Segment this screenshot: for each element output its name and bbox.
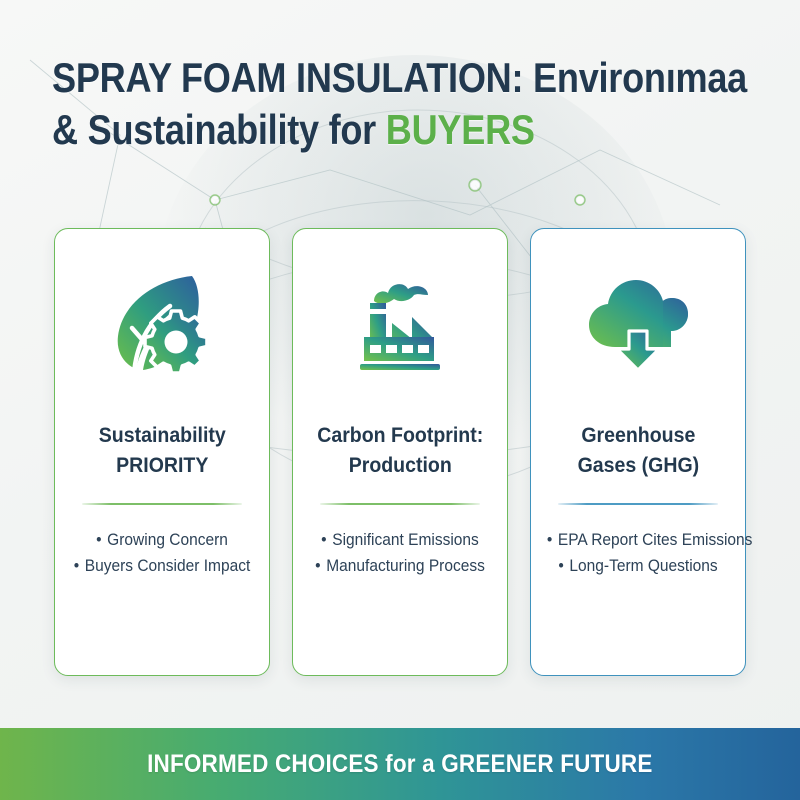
card-bullet-list: Growing Concern Buyers Consider Impact [65,527,259,579]
list-item: Long-Term Questions [547,553,729,579]
footer-tagline: INFORMED CHOICES for a GREENER FUTURE [147,750,652,779]
card-heading: Carbon Footprint: Production [317,421,483,481]
title-highlight-buyers: BUYERS [386,106,535,153]
card-bullet-list: Significant Emissions Manufacturing Proc… [303,527,497,579]
list-item: Buyers Consider Impact [71,553,253,579]
card-bullet-list: EPA Report Cites Emissions Long-Term Que… [541,527,735,579]
card-greenhouse-gases[interactable]: Greenhouse Gases (GHG) EPA Report Cites … [530,228,746,676]
card-carbon-footprint-production[interactable]: Carbon Footprint: Production Significant… [292,228,508,676]
factory-icon [345,267,455,379]
card-heading: Sustainability PRIORITY [99,421,226,481]
list-item: Manufacturing Process [309,553,491,579]
infographic-canvas: SPRAY FOAM INSULATION: Environımaa & Sus… [0,0,800,800]
card-heading: Greenhouse Gases (GHG) [577,421,699,481]
leaf-gear-icon [107,267,217,379]
footer-banner: INFORMED CHOICES for a GREENER FUTURE [0,728,800,800]
card-divider [558,503,718,505]
list-item: Significant Emissions [309,527,491,553]
card-divider [320,503,480,505]
title-line-2: & Sustainability for BUYERS [52,104,706,156]
list-item: EPA Report Cites Emissions [547,527,729,553]
title-line-2-prefix: & Sustainability for [52,106,386,153]
cards-row: Sustainability PRIORITY Growing Concern … [0,228,800,676]
card-divider [82,503,242,505]
title-line-1: SPRAY FOAM INSULATION: Environımaa [52,52,706,104]
list-item: Growing Concern [71,527,253,553]
page-title: SPRAY FOAM INSULATION: Environımaa & Sus… [52,52,800,156]
card-sustainability-priority[interactable]: Sustainability PRIORITY Growing Concern … [54,228,270,676]
cloud-download-icon [583,267,693,379]
